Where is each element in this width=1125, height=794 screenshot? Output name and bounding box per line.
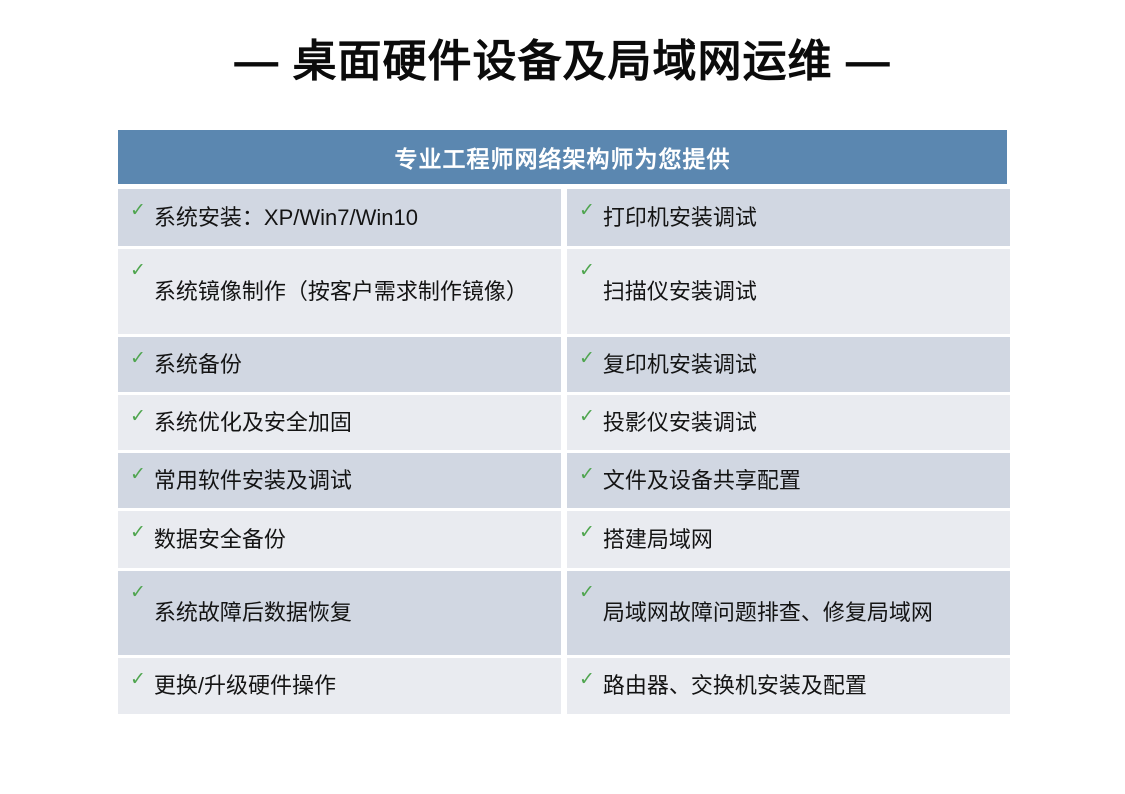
check-icon: ✓ [579,577,595,602]
table-cell-left: ✓ 系统备份 [118,337,561,392]
table-row: ✓ 常用软件安装及调试 ✓ 文件及设备共享配置 [118,453,1007,508]
table-cell-right: ✓ 路由器、交换机安装及配置 [567,658,1010,714]
table-row: ✓ 系统优化及安全加固 ✓ 投影仪安装调试 [118,395,1007,450]
service-item-label: 局域网故障问题排查、修复局域网 [603,597,1000,628]
table-cell-left: ✓ 系统镜像制作（按客户需求制作镜像） [118,249,561,334]
check-icon: ✓ [579,195,595,220]
check-icon: ✓ [130,517,146,542]
check-icon: ✓ [130,343,146,368]
table-cell-left: ✓ 系统故障后数据恢复 [118,571,561,655]
table-cell-left: ✓ 系统安装：XP/Win7/Win10 [118,189,561,246]
table-cell-left: ✓ 数据安全备份 [118,511,561,568]
service-item-label: 数据安全备份 [154,524,551,555]
service-item-label: 常用软件安装及调试 [154,465,551,496]
check-icon: ✓ [130,401,146,426]
table-cell-right: ✓ 搭建局域网 [567,511,1010,568]
service-item-label: 搭建局域网 [603,524,1000,555]
service-item-label: 文件及设备共享配置 [603,465,1000,496]
service-item-label: 复印机安装调试 [603,349,1000,380]
table-cell-right: ✓ 投影仪安装调试 [567,395,1010,450]
check-icon: ✓ [130,664,146,689]
page-title: — 桌面硬件设备及局域网运维 — [0,34,1125,89]
table-row: ✓ 系统镜像制作（按客户需求制作镜像） ✓ 扫描仪安装调试 [118,249,1007,334]
table-cell-right: ✓ 文件及设备共享配置 [567,453,1010,508]
check-icon: ✓ [130,255,146,280]
table-cell-right: ✓ 复印机安装调试 [567,337,1010,392]
table-body: ✓ 系统安装：XP/Win7/Win10 ✓ 打印机安装调试 ✓ 系统镜像制作（… [118,189,1007,714]
table-header-label: 专业工程师网络架构师为您提供 [395,140,731,174]
service-item-label: 更换/升级硬件操作 [154,670,551,701]
service-item-label: 路由器、交换机安装及配置 [603,670,1000,701]
check-icon: ✓ [579,401,595,426]
check-icon: ✓ [130,459,146,484]
table-cell-left: ✓ 系统优化及安全加固 [118,395,561,450]
service-item-label: 系统安装：XP/Win7/Win10 [154,202,551,233]
service-item-label: 系统优化及安全加固 [154,407,551,438]
table-row: ✓ 更换/升级硬件操作 ✓ 路由器、交换机安装及配置 [118,658,1007,714]
service-item-label: 系统故障后数据恢复 [154,597,551,628]
check-icon: ✓ [579,664,595,689]
table-row: ✓ 系统故障后数据恢复 ✓ 局域网故障问题排查、修复局域网 [118,571,1007,655]
table-row: ✓ 数据安全备份 ✓ 搭建局域网 [118,511,1007,568]
table-cell-right: ✓ 扫描仪安装调试 [567,249,1010,334]
service-item-label: 投影仪安装调试 [603,407,1000,438]
service-item-label: 系统镜像制作（按客户需求制作镜像） [154,276,551,307]
table-row: ✓ 系统安装：XP/Win7/Win10 ✓ 打印机安装调试 [118,189,1007,246]
service-item-label: 扫描仪安装调试 [603,276,1000,307]
service-item-label: 打印机安装调试 [603,202,1000,233]
services-table: 专业工程师网络架构师为您提供 ✓ 系统安装：XP/Win7/Win10 ✓ 打印… [118,130,1007,714]
slide-canvas: — 桌面硬件设备及局域网运维 — 专业工程师网络架构师为您提供 ✓ 系统安装：X… [0,0,1125,794]
check-icon: ✓ [579,343,595,368]
check-icon: ✓ [579,255,595,280]
table-cell-right: ✓ 局域网故障问题排查、修复局域网 [567,571,1010,655]
table-cell-right: ✓ 打印机安装调试 [567,189,1010,246]
table-cell-left: ✓ 常用软件安装及调试 [118,453,561,508]
check-icon: ✓ [130,577,146,602]
check-icon: ✓ [579,459,595,484]
check-icon: ✓ [579,517,595,542]
service-item-label: 系统备份 [154,349,551,380]
table-header: 专业工程师网络架构师为您提供 [118,130,1007,184]
table-cell-left: ✓ 更换/升级硬件操作 [118,658,561,714]
check-icon: ✓ [130,195,146,220]
table-row: ✓ 系统备份 ✓ 复印机安装调试 [118,337,1007,392]
